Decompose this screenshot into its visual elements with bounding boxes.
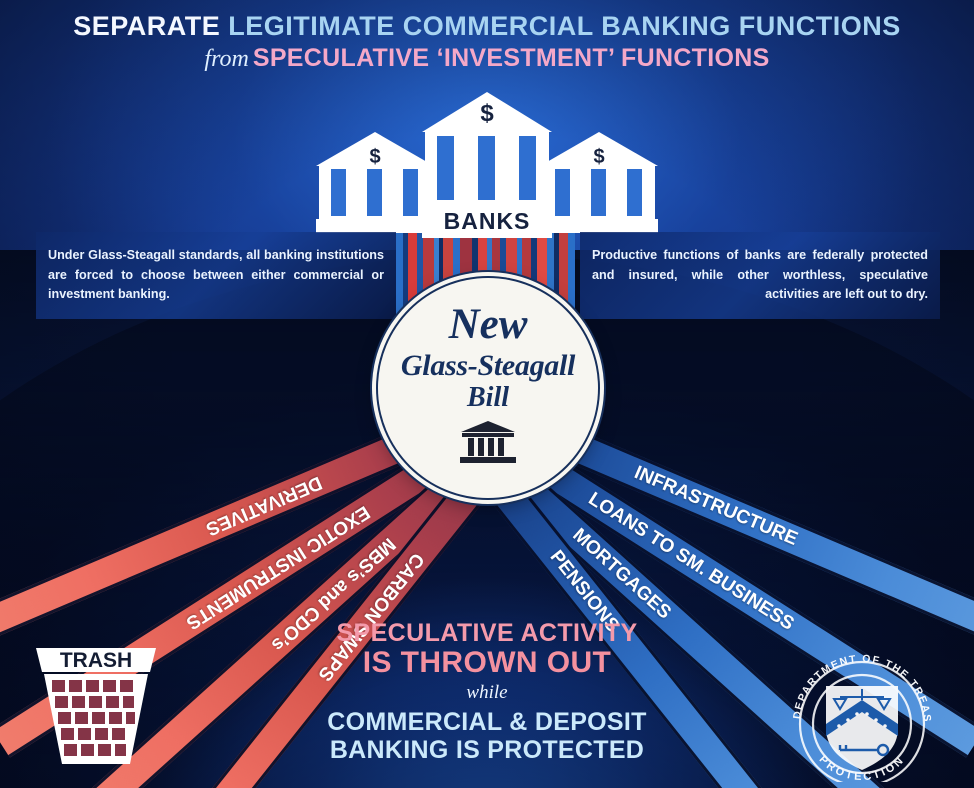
infographic-canvas: DERIVATIVES EXOTIC INSTRUMENTS MBS’s and… [0, 0, 974, 788]
headline-line-2: fromSPECULATIVE ‘INVESTMENT’ FUNCTIONS [0, 45, 974, 73]
headline-word-separate: SEPARATE [73, 11, 220, 41]
dollar-sign-right: $ [540, 146, 658, 169]
treasury-seal: THE DEPARTMENT OF THE TREASURY PROTECTIO… [782, 650, 942, 782]
banks-group: $ $ BANKS $ [0, 92, 974, 232]
headline-line-1-blue: LEGITIMATE COMMERCIAL BANKING FUNCTIONS [228, 11, 900, 41]
banks-label: BANKS [422, 208, 552, 235]
trash-can-icon: TRASH [32, 646, 160, 768]
headline: SEPARATE LEGITIMATE COMMERCIAL BANKING F… [0, 12, 974, 73]
bank-building-left: $ [316, 132, 434, 233]
classical-bank-icon [460, 420, 516, 469]
badge-line-bill: Bill [467, 384, 509, 412]
svg-text:TRASH: TRASH [60, 649, 132, 672]
info-box-left: Under Glass-Steagall standards, all bank… [36, 232, 396, 319]
headline-line-2-pink: SPECULATIVE ‘INVESTMENT’ FUNCTIONS [253, 44, 770, 72]
headline-line-1: SEPARATE LEGITIMATE COMMERCIAL BANKING F… [0, 12, 974, 41]
bank-building-center: $ BANKS [422, 92, 552, 238]
new-glass-steagall-badge: New Glass-Steagall Bill [378, 278, 598, 498]
dollar-sign-left: $ [316, 146, 434, 169]
dollar-sign-center: $ [422, 100, 552, 128]
headline-word-from: from [204, 46, 248, 72]
badge-line-glass-steagall: Glass-Steagall [401, 349, 575, 382]
bottom-line-speculative: SPECULATIVE ACTIVITY [0, 620, 974, 646]
badge-line-new: New [449, 303, 528, 346]
bank-building-right: $ [540, 132, 658, 233]
info-box-right: Productive functions of banks are federa… [580, 232, 940, 319]
